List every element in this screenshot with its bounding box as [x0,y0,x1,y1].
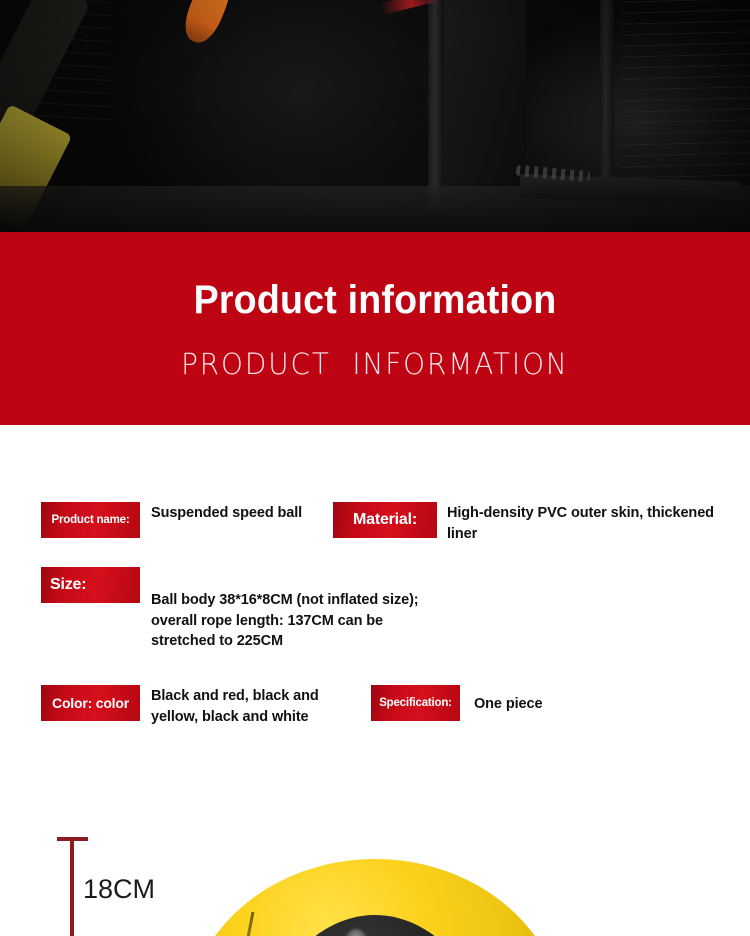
banner-subtitle: PRODUCT INFORMATION [181,350,569,379]
spec-row-specification: Specification: One piece [371,685,654,721]
ball-black-panel [257,915,493,936]
spec-value-material: High-density PVC outer skin, thickened l… [447,503,715,544]
specification-table: Product name: Suspended speed ball Mater… [0,425,750,755]
hero-product-photo [0,0,750,232]
spec-value-product-name: Suspended speed ball [151,503,326,524]
spec-row-material: Material: High-density PVC outer skin, t… [333,502,715,544]
spec-value-size: Ball body 38*16*8CM (not inflated size);… [151,590,451,652]
dimension-label: 18CM [83,876,155,903]
spec-label-size: Size: [41,567,140,603]
spec-row-size: Size: Ball body 38*16*8CM (not inflated … [41,567,451,652]
spec-row-color: Color: color Black and red, black and ye… [41,685,351,727]
spec-label-color: Color: color [41,685,140,721]
spec-row-product-name: Product name: Suspended speed ball [41,502,326,538]
spec-label-product-name: Product name: [41,502,140,538]
spec-value-color: Black and red, black and yellow, black a… [151,686,351,727]
dimension-line-icon [70,837,74,936]
ball-seam [229,912,255,936]
ball-highlight [341,929,371,936]
spec-label-specification: Specification: [371,685,460,721]
photo-vignette [0,0,750,232]
spec-value-specification: One piece [474,694,654,715]
section-banner: Product information PRODUCT INFORMATION [0,232,750,425]
product-detail-page: Product information PRODUCT INFORMATION … [0,0,750,936]
dimension-diagram: 18CM [0,820,750,936]
speed-ball-image [186,859,564,936]
banner-title: Product information [194,280,557,320]
spec-label-material: Material: [333,502,437,538]
